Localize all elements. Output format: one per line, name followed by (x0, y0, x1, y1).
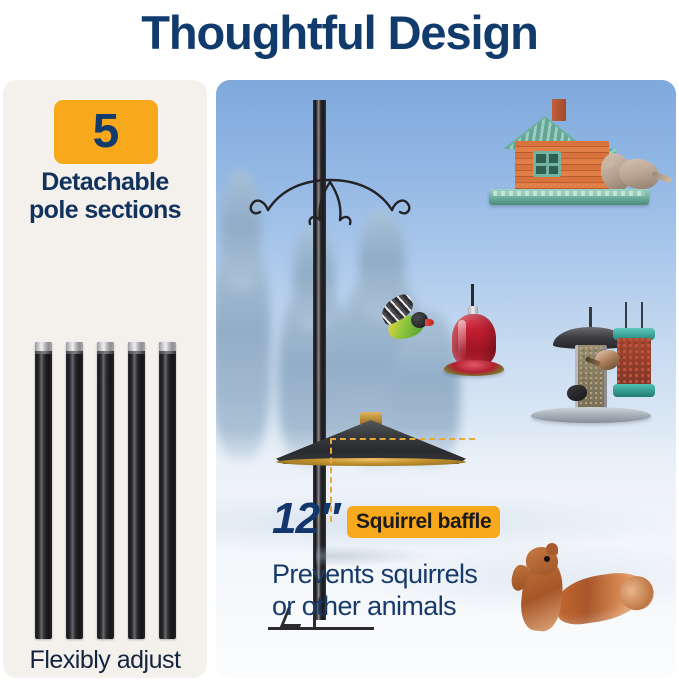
pole-cap-icon (66, 342, 83, 354)
birdhouse-platform (489, 189, 649, 205)
left-feature-panel: 5 Detachable pole sections Flexibly adju… (3, 80, 207, 678)
mesh-seed-body (617, 338, 651, 386)
pole-count-badge: 5 (54, 100, 158, 164)
measurement-row: 12″ Squirrel baffle (272, 497, 500, 541)
hanger-arms-icon (210, 176, 450, 246)
feeder-bottom-cap (613, 384, 655, 397)
squirrel-baffle-badge: Squirrel baffle (347, 506, 500, 538)
birdhouse-icon (489, 95, 649, 205)
birdhouse-window-icon (533, 151, 561, 177)
pole-cap-icon (128, 342, 145, 354)
feeder-hook-icon (589, 307, 592, 329)
squirrel-ear (546, 543, 558, 555)
right-panel-caption-line2: or other animals (272, 590, 572, 622)
pole-section-icon (66, 342, 83, 639)
feeder-hook-icon (625, 302, 627, 330)
left-panel-heading-line2: pole sections (3, 196, 207, 224)
bird-beak (425, 319, 434, 326)
bird-icon (567, 385, 587, 401)
pole-cap-icon (35, 342, 52, 354)
left-panel-caption: Flexibly adjust the height (3, 646, 207, 678)
left-panel-caption-line1: Flexibly adjust (3, 646, 207, 675)
stake-bar (268, 627, 374, 630)
right-panel-caption: Prevents squirrels or other animals (272, 558, 572, 622)
feeder-base-dish (444, 360, 504, 376)
squirrel-baffle-icon (276, 412, 466, 468)
pole-section-icon (128, 342, 145, 639)
infographic-page: Thoughtful Design 5 Detachable pole sect… (0, 0, 679, 682)
feeder-hook-icon (641, 302, 643, 330)
page-title: Thoughtful Design (0, 2, 679, 64)
lovebird-icon (378, 298, 434, 346)
left-panel-caption-line2: the height (3, 675, 207, 678)
pole-cap-icon (97, 342, 114, 354)
pole-section-icon (97, 342, 114, 639)
baffle-rim (276, 458, 466, 466)
hummingbird-feeder-icon (444, 312, 504, 392)
left-panel-heading: Detachable pole sections (3, 168, 207, 224)
pole-section-icon (159, 342, 176, 639)
feeder-glass-body (452, 314, 496, 366)
birdhouse-body (515, 141, 609, 191)
pole-cap-icon (159, 342, 176, 354)
left-panel-heading-line1: Detachable (3, 168, 207, 196)
measurement-guide-horizontal (330, 438, 475, 440)
right-panel-caption-line1: Prevents squirrels (272, 558, 572, 590)
finch-icon (595, 350, 619, 370)
measurement-value: 12″ (272, 497, 339, 541)
mesh-feeder-icon (611, 306, 657, 398)
pole-sections-group (3, 342, 207, 642)
pole-section-icon (35, 342, 52, 639)
seed-tray-icon (531, 407, 651, 423)
